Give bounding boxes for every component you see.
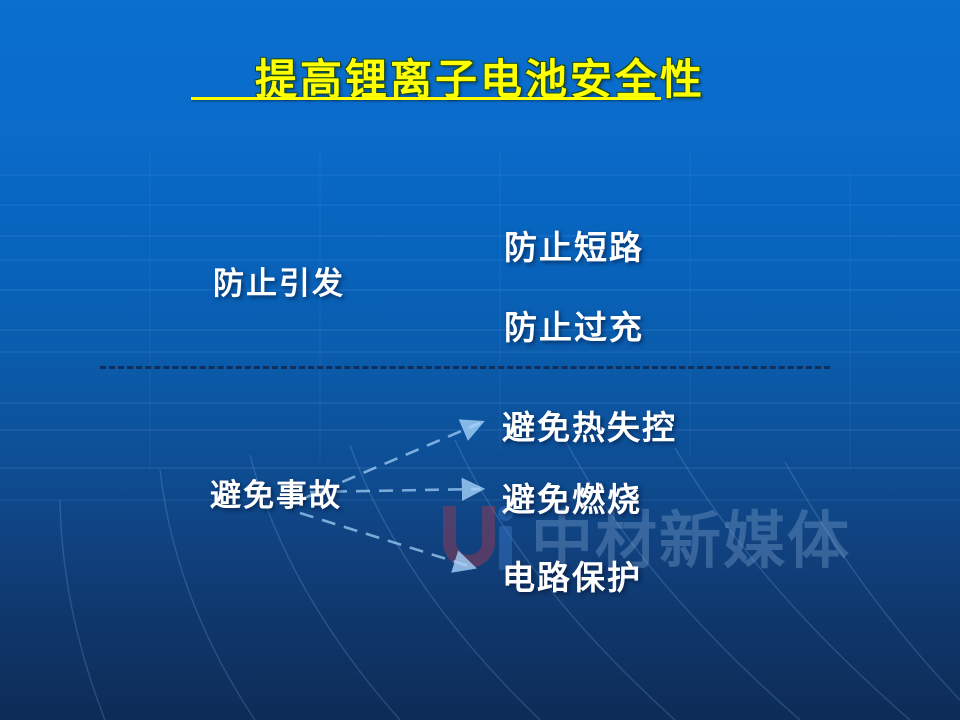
connector-arrows	[0, 0, 960, 720]
node-avoid-thermal-runaway[interactable]: 避免热失控	[502, 401, 677, 449]
slide-canvas: 中材新媒体 提高锂离子电池安全性 防止引发 防止短路 防止过充 避免事故 避免热…	[0, 0, 960, 720]
node-cause-prevention[interactable]: 防止引发	[213, 258, 345, 303]
node-accident-avoidance[interactable]: 避免事故	[210, 470, 342, 515]
title-underline	[191, 97, 661, 100]
arrow-to-circuit-protection	[300, 513, 472, 567]
globe-graticule-decoration	[0, 0, 960, 720]
node-circuit-protection[interactable]: 电路保护	[502, 551, 642, 599]
node-prevent-overcharge[interactable]: 防止过充	[504, 301, 644, 349]
section-divider	[100, 366, 830, 369]
node-prevent-short-circuit[interactable]: 防止短路	[504, 221, 644, 269]
node-avoid-combustion[interactable]: 避免燃烧	[502, 473, 642, 521]
